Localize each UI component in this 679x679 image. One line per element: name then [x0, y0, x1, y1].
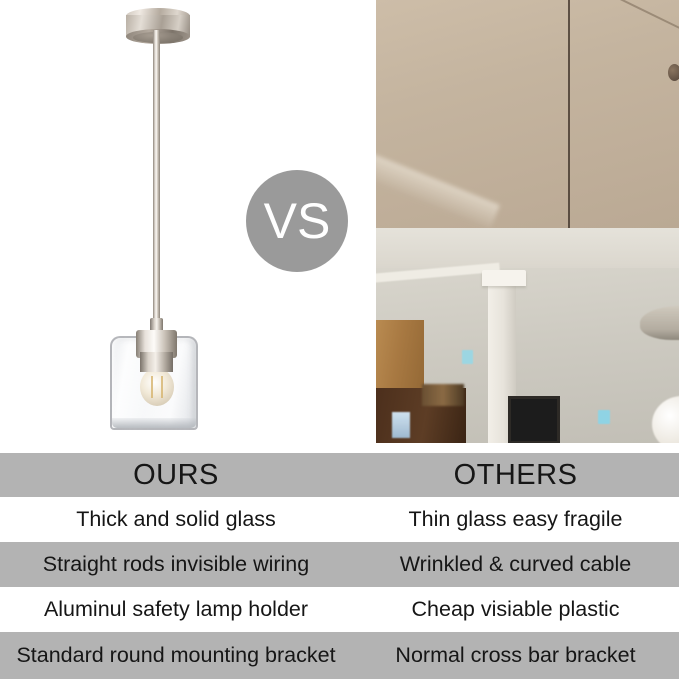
comparison-table: OURS OTHERS Thick and solid glass Thin g… [0, 453, 679, 679]
others-product-image [376, 0, 679, 443]
vs-label: VS [264, 196, 331, 246]
cell-ours-3: Aluminul safety lamp holder [0, 587, 352, 632]
cell-ours-4: Standard round mounting bracket [0, 632, 352, 679]
vs-badge: VS [246, 170, 348, 272]
table-row: Thick and solid glass Thin glass easy fr… [0, 497, 679, 542]
wall-outlet-right [598, 410, 610, 424]
cell-ours-1: Thick and solid glass [0, 497, 352, 542]
beige-ceiling [376, 0, 679, 245]
table-row: Straight rods invisible wiring Wrinkled … [0, 542, 679, 587]
table-row: Standard round mounting bracket Normal c… [0, 632, 679, 679]
tv-screen [508, 396, 560, 443]
media-area: VS [0, 0, 679, 453]
ceiling-edge-line [612, 0, 679, 49]
glass-shade-rim [112, 418, 196, 428]
cell-others-4: Normal cross bar bracket [352, 632, 679, 679]
straight-rod [153, 30, 160, 342]
bottle-object [392, 412, 410, 438]
cell-ours-2: Straight rods invisible wiring [0, 542, 352, 587]
ceiling-knob [668, 64, 679, 81]
cell-others-1: Thin glass easy fragile [352, 497, 679, 542]
table-header-row: OURS OTHERS [0, 453, 679, 497]
table-row: Aluminul safety lamp holder Cheap visiab… [0, 587, 679, 632]
wall-outlet-left [462, 350, 473, 364]
header-ours: OURS [0, 453, 352, 497]
cell-others-3: Cheap visiable plastic [352, 587, 679, 632]
hanging-cord-upper [568, 0, 570, 238]
column-capital [482, 270, 526, 286]
counter-items [422, 384, 464, 406]
header-others: OTHERS [352, 453, 679, 497]
bulb-filament [151, 376, 163, 398]
ceiling-ridge [376, 149, 500, 229]
cell-others-2: Wrinkled & curved cable [352, 542, 679, 587]
room-scene [376, 228, 679, 443]
comparison-infographic: VS OURS OTHERS Thick and solid glass Thi… [0, 0, 679, 679]
lamp-holder-band [140, 352, 173, 372]
